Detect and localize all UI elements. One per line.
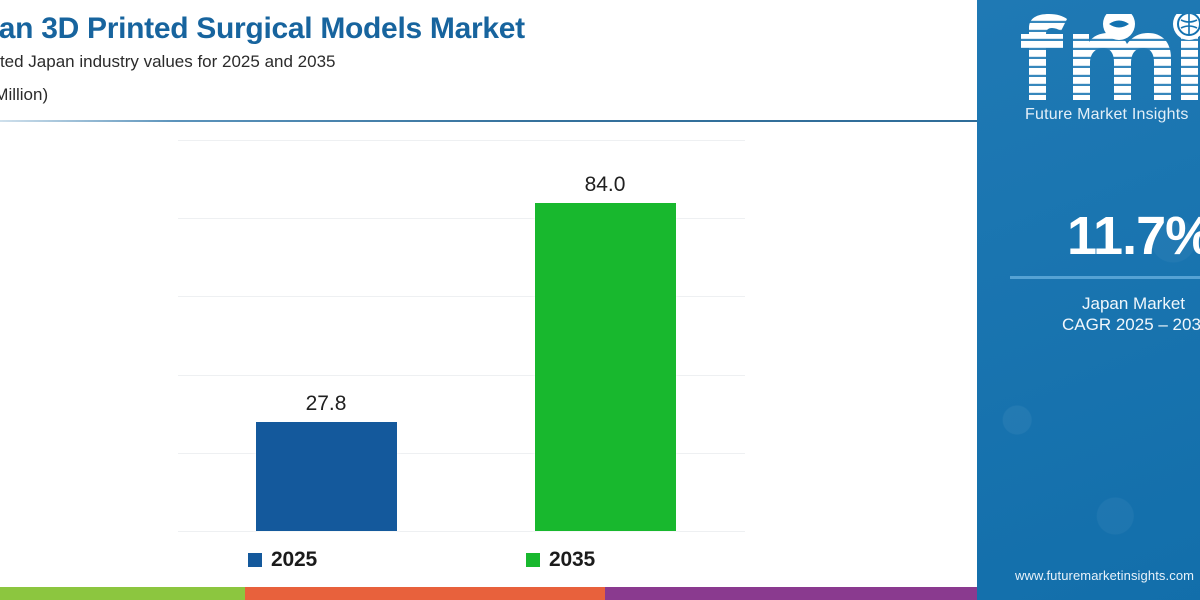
fmi-logo-mark bbox=[1021, 14, 1200, 100]
gridline bbox=[178, 140, 745, 141]
header-divider bbox=[0, 120, 977, 122]
chart-subtitle: Estimated Japan industry values for 2025… bbox=[0, 52, 335, 72]
chart-legend: 20252035 bbox=[178, 548, 745, 582]
bar-2035[interactable]: 84.0 bbox=[535, 203, 676, 531]
fmi-wordmark-icon bbox=[1021, 14, 1200, 100]
bar-rect bbox=[256, 422, 397, 531]
fmi-logo: Future Market Insights bbox=[1021, 14, 1200, 134]
gridline bbox=[178, 531, 745, 532]
plot-area: 27.884.0 bbox=[178, 140, 745, 531]
strip-segment-orange bbox=[245, 587, 605, 600]
legend-swatch-icon bbox=[526, 553, 540, 567]
bottom-color-strip bbox=[0, 587, 977, 600]
bar-value-label: 84.0 bbox=[585, 173, 626, 197]
website-url: www.futuremarketinsights.com bbox=[1015, 568, 1194, 583]
legend-swatch-icon bbox=[248, 553, 262, 567]
side-panel: Future Market Insights 11.7% Japan Marke… bbox=[977, 0, 1200, 600]
legend-label: 2025 bbox=[271, 548, 317, 572]
page-title: Japan 3D Printed Surgical Models Market bbox=[0, 12, 525, 46]
cagr-value: 11.7% bbox=[1067, 205, 1200, 267]
strip-segment-purple bbox=[605, 587, 977, 600]
bar-rect bbox=[535, 203, 676, 531]
bar-2025[interactable]: 27.8 bbox=[256, 422, 397, 531]
legend-item-2035[interactable]: 2035 bbox=[526, 548, 595, 572]
chart-units-label: (USD Million) bbox=[0, 85, 48, 105]
chart-header: Japan 3D Printed Surgical Models Market … bbox=[0, 0, 977, 120]
legend-label: 2035 bbox=[549, 548, 595, 572]
cagr-divider bbox=[1010, 276, 1200, 279]
cagr-caption-market: Japan Market bbox=[1082, 294, 1185, 314]
plot-wrapper: 27.884.0 20252035 bbox=[0, 123, 977, 600]
chart-infographic: Japan 3D Printed Surgical Models Market … bbox=[0, 0, 1200, 600]
legend-item-2025[interactable]: 2025 bbox=[248, 548, 317, 572]
bar-value-label: 27.8 bbox=[306, 392, 347, 416]
strip-segment-green bbox=[0, 587, 245, 600]
cagr-caption-period: CAGR 2025 – 2035 bbox=[1062, 315, 1200, 335]
fmi-logo-caption: Future Market Insights bbox=[1025, 106, 1189, 124]
chart-main-area: Japan 3D Printed Surgical Models Market … bbox=[0, 0, 977, 600]
